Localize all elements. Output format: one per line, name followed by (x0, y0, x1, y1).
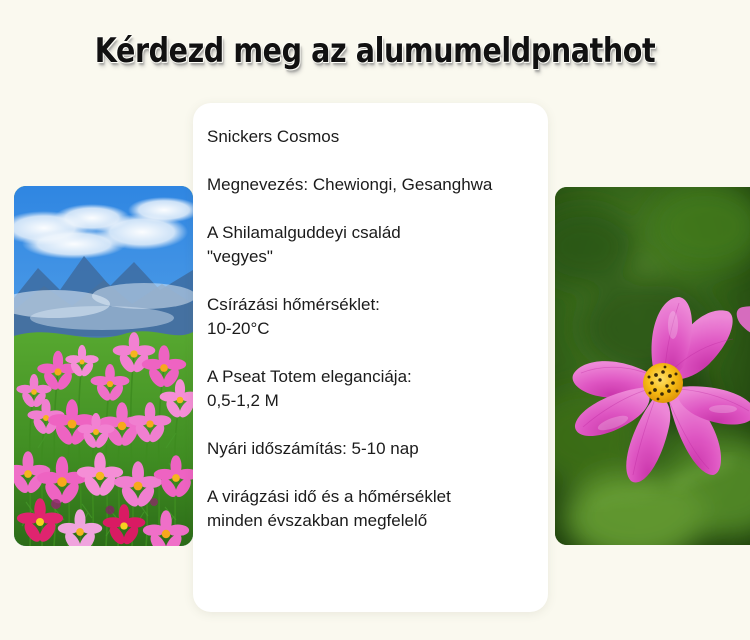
cosmos-field-photo (14, 186, 193, 546)
cosmos-field-illustration (14, 186, 193, 546)
info-card: Snickers Cosmos Megnevezés: Chewiongi, G… (193, 103, 548, 612)
card-paragraph-6: Nyári időszámítás: 5-10 nap (207, 437, 540, 461)
single-cosmos-photo (555, 187, 750, 545)
page-title: Kérdezd meg az alumumeldpnathot (60, 30, 690, 72)
single-cosmos-illustration (555, 187, 750, 545)
card-paragraph-4: Csírázási hőmérséklet: 10-20°C (207, 293, 540, 341)
card-paragraph-1: Snickers Cosmos (207, 125, 540, 149)
card-paragraph-2: Megnevezés: Chewiongi, Gesanghwa (207, 173, 540, 197)
card-paragraph-7: A virágzási idő és a hőmérséklet minden … (207, 485, 540, 533)
info-card-body: Snickers Cosmos Megnevezés: Chewiongi, G… (207, 125, 540, 533)
card-paragraph-3: A Shilamalguddeyi család "vegyes" (207, 221, 540, 269)
card-paragraph-5: A Pseat Totem eleganciája: 0,5-1,2 M (207, 365, 540, 413)
poster-canvas: Kérdezd meg az alumumeldpnathot (0, 0, 750, 640)
